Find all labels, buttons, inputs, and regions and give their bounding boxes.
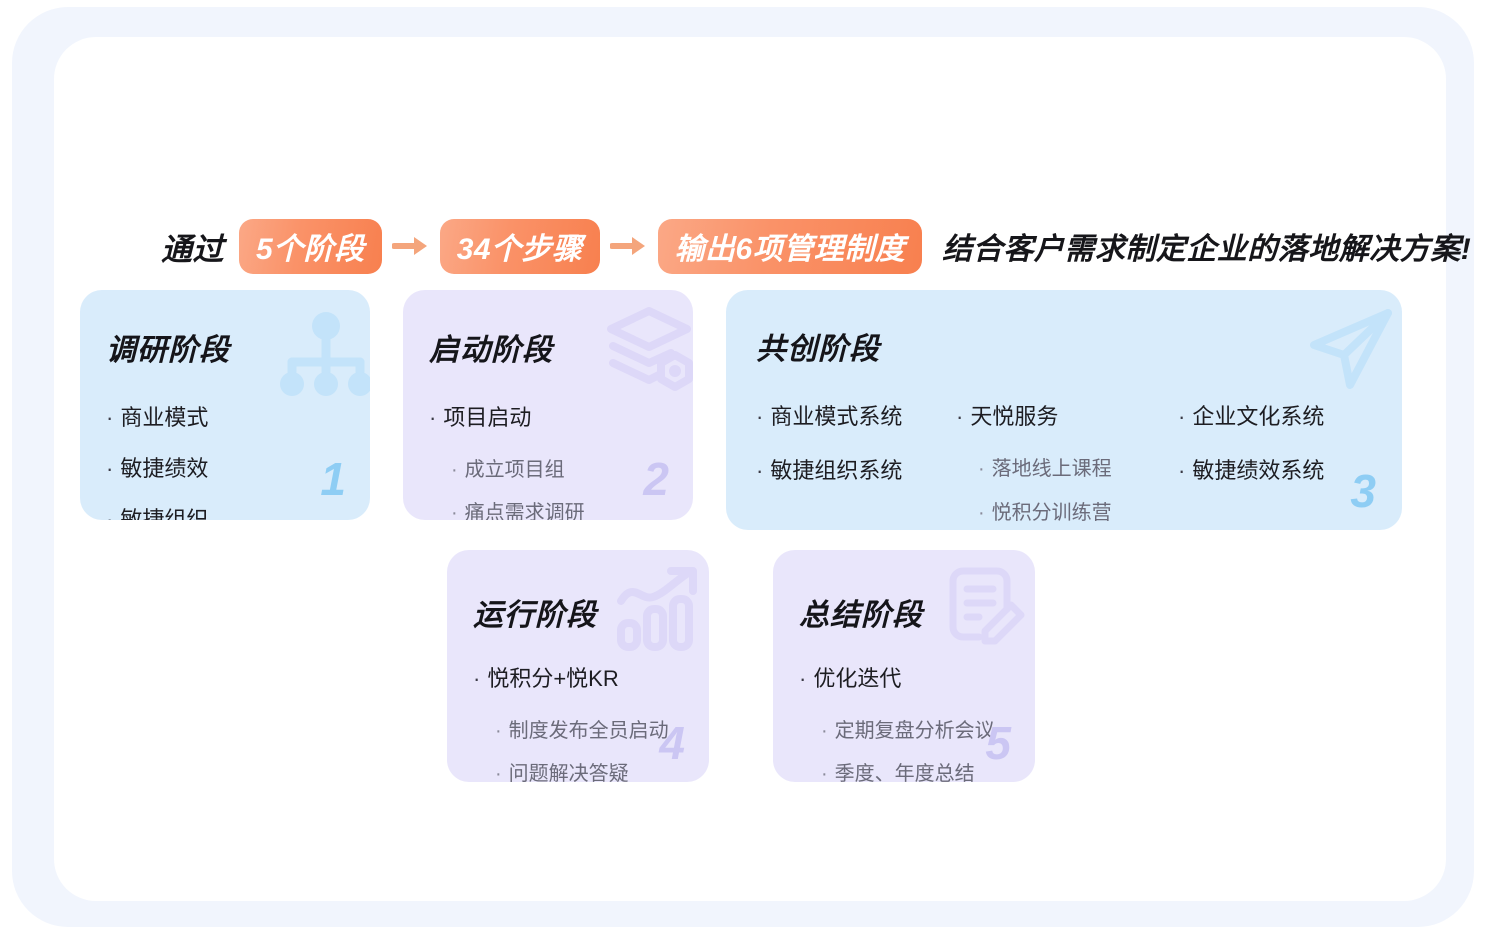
header-banner: 通过 5个阶段 34个步骤 输出6项管理制度 结合客户需求制定企业的落地解决方案… xyxy=(161,215,1471,277)
stage-card-5-title: 总结阶段 xyxy=(799,590,923,634)
arrow-right-icon xyxy=(382,219,440,274)
bullet-dot: · xyxy=(451,459,458,481)
list-item-label: 优化迭代 xyxy=(813,666,901,691)
list-item: ·项目启动 xyxy=(429,407,585,429)
stage-card-5[interactable]: 总结阶段 ·优化迭代 ·定期复盘分析会议 ·季度、年度总结 • • • • • … xyxy=(773,550,1035,782)
content-card: 通过 5个阶段 34个步骤 输出6项管理制度 结合客户需求制定企业的落地解决方案… xyxy=(54,37,1446,901)
list-item-label: 季度、年度总结 xyxy=(835,763,975,782)
growth-chart-icon xyxy=(615,565,701,651)
bullet-dot: · xyxy=(473,666,480,691)
stage-card-4[interactable]: 运行阶段 ·悦积分+悦KR ·制度发布全员启动 ·问题解决答疑 • • • • … xyxy=(447,550,709,782)
stage-card-1-column-1: ·商业模式 ·敏捷绩效 ·敏捷组织 xyxy=(106,407,208,520)
list-item-label: 成立项目组 xyxy=(465,459,565,481)
arrow-right-icon-2 xyxy=(600,219,658,274)
list-item: ·悦积分训练营 xyxy=(978,503,1112,523)
stage-card-2-column-1: ·项目启动 ·成立项目组 ·痛点需求调研 • • • • • xyxy=(429,407,585,520)
list-item: ·季度、年度总结 xyxy=(821,764,995,782)
stage-card-3-column-3: ·企业文化系统 ·敏捷绩效系统 xyxy=(1178,406,1324,482)
bullet-dot: · xyxy=(756,404,763,429)
bullet-dot: · xyxy=(495,720,502,742)
bullet-dot: · xyxy=(821,763,828,782)
list-item-label: 敏捷绩效系统 xyxy=(1192,458,1324,483)
header-badge-steps: 34个步骤 xyxy=(440,219,600,274)
stage-card-2-number: 2 xyxy=(643,456,669,502)
bullet-dot: · xyxy=(799,666,806,691)
stage-card-5-number: 5 xyxy=(985,720,1011,766)
header-badge-stages: 5个阶段 xyxy=(239,219,382,274)
document-edit-icon xyxy=(945,565,1029,649)
header-lead-text: 通过 xyxy=(161,224,224,269)
list-item: ·天悦服务 xyxy=(956,406,1112,428)
list-item: ·商业模式系统 xyxy=(756,406,902,428)
list-item-label: 项目启动 xyxy=(443,405,531,430)
stage-card-1-number: 1 xyxy=(320,456,346,502)
list-item: ·成立项目组 xyxy=(451,460,585,480)
list-item: ·敏捷绩效 xyxy=(106,458,208,480)
list-item: ·优化迭代 xyxy=(799,668,995,690)
header-tail-text: 结合客户需求制定企业的落地解决方案! xyxy=(942,224,1471,268)
list-item: ·悦积分+悦KR xyxy=(473,668,669,690)
stage-card-3-column-1: ·商业模式系统 ·敏捷组织系统 xyxy=(756,406,902,482)
list-item-label: 悦积分+悦KR xyxy=(487,666,618,691)
list-item-label: 敏捷组织 xyxy=(120,507,208,520)
stage-card-3-number: 3 xyxy=(1350,468,1376,514)
stage-card-2[interactable]: 启动阶段 ·项目启动 ·成立项目组 ·痛点需求调研 • • • • • 2 xyxy=(403,290,693,520)
stage-card-5-column-1: ·优化迭代 ·定期复盘分析会议 ·季度、年度总结 • • • • • xyxy=(799,668,995,782)
stage-card-3-title: 共创阶段 xyxy=(756,324,880,368)
bullet-dot: · xyxy=(821,720,828,742)
stage-card-4-title: 运行阶段 xyxy=(473,590,597,634)
header-badge-output: 输出6项管理制度 xyxy=(658,219,923,274)
bullet-dot: · xyxy=(1178,404,1185,429)
bullet-dot: · xyxy=(956,404,963,429)
outer-frame: 通过 5个阶段 34个步骤 输出6项管理制度 结合客户需求制定企业的落地解决方案… xyxy=(12,7,1474,927)
list-item-label: 落地线上课程 xyxy=(992,458,1112,480)
list-item: ·制度发布全员启动 xyxy=(495,721,669,741)
list-item: ·敏捷组织 xyxy=(106,509,208,520)
bullet-dot: · xyxy=(1178,458,1185,483)
stage-card-1-title: 调研阶段 xyxy=(106,325,230,369)
list-item-label: 商业模式系统 xyxy=(770,404,902,429)
stage-card-1[interactable]: 调研阶段 ·商业模式 ·敏捷绩效 ·敏捷组织 1 xyxy=(80,290,370,520)
bullet-dot: · xyxy=(429,405,436,430)
list-item-label: 企业文化系统 xyxy=(1192,404,1324,429)
list-item-label: 问题解决答疑 xyxy=(509,763,629,782)
list-item: ·商业模式 xyxy=(106,407,208,429)
list-item: ·定期复盘分析会议 xyxy=(821,721,995,741)
paper-plane-icon xyxy=(1304,305,1396,393)
bullet-dot: · xyxy=(978,502,985,524)
list-item: ·问题解决答疑 xyxy=(495,764,669,782)
stage-card-2-title: 启动阶段 xyxy=(429,325,553,369)
list-item: ·落地线上课程 xyxy=(978,459,1112,479)
stage-card-3[interactable]: 共创阶段 ·商业模式系统 ·敏捷组织系统 ·天悦服务 ·落地线上课程 ·悦积分训… xyxy=(726,290,1402,530)
list-item-label: 敏捷组织系统 xyxy=(770,458,902,483)
bullet-dot: · xyxy=(106,507,113,520)
bullet-dot: · xyxy=(495,763,502,782)
list-item-label: 天悦服务 xyxy=(970,404,1058,429)
layers-settings-icon xyxy=(603,303,693,393)
list-item: ·敏捷绩效系统 xyxy=(1178,460,1324,482)
list-item-label: 商业模式 xyxy=(120,405,208,430)
list-item-label: 悦积分训练营 xyxy=(992,502,1112,524)
stage-card-4-number: 4 xyxy=(659,720,685,766)
list-item: ·敏捷组织系统 xyxy=(756,460,902,482)
bullet-dot: · xyxy=(106,405,113,430)
list-item-label: 制度发布全员启动 xyxy=(509,720,669,742)
stage-card-4-column-1: ·悦积分+悦KR ·制度发布全员启动 ·问题解决答疑 • • • • • xyxy=(473,668,669,782)
list-item-label: 痛点需求调研 xyxy=(465,502,585,520)
bullet-dot: · xyxy=(451,502,458,520)
list-item: ·痛点需求调研 xyxy=(451,503,585,520)
stage-card-3-column-2: ·天悦服务 ·落地线上课程 ·悦积分训练营 xyxy=(956,406,1112,523)
list-item-label: 敏捷绩效 xyxy=(120,456,208,481)
org-chart-icon xyxy=(278,312,370,396)
bullet-dot: · xyxy=(756,458,763,483)
list-item: ·企业文化系统 xyxy=(1178,406,1324,428)
bullet-dot: · xyxy=(978,458,985,480)
bullet-dot: · xyxy=(106,456,113,481)
list-item-label: 定期复盘分析会议 xyxy=(835,720,995,742)
